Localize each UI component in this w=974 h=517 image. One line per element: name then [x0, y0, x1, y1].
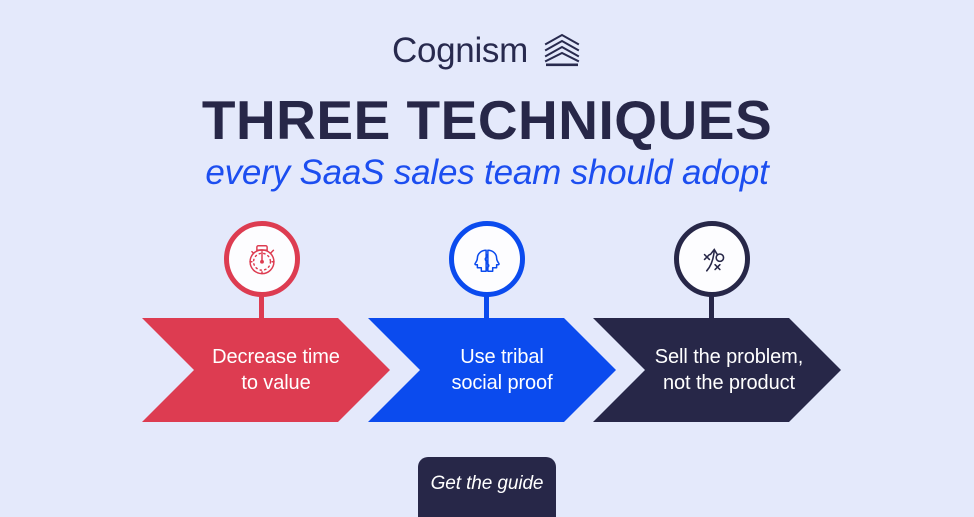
step-arrow-3[interactable]: Sell the problem, not the product: [593, 318, 841, 422]
step-arrow-2[interactable]: Use tribal social proof: [368, 318, 616, 422]
stopwatch-icon: [240, 237, 284, 281]
brand-logo: Cognism: [0, 30, 974, 70]
steps-arrow-band: Decrease time to value Use tribal social…: [0, 318, 974, 422]
step-arrow-label-1: Decrease time to value: [186, 344, 346, 397]
page-subtitle: every SaaS sales team should adopt: [0, 152, 974, 194]
get-the-guide-button[interactable]: Get the guide: [418, 457, 556, 517]
step-arrow-1[interactable]: Decrease time to value: [142, 318, 390, 422]
step-badge-2: [449, 221, 525, 297]
step-badge-1: [224, 221, 300, 297]
brand-name: Cognism: [392, 33, 528, 68]
step-arrow-label-2: Use tribal social proof: [425, 344, 558, 397]
two-heads-puzzle-icon: [466, 238, 508, 280]
page-title: THREE TECHNIQUES: [0, 92, 974, 150]
stacked-chevrons-icon: [542, 30, 582, 70]
infographic-canvas: Cognism THREE TECHNIQUES every SaaS sale…: [0, 0, 974, 510]
step-badge-3: [674, 221, 750, 297]
step-arrow-label-3: Sell the problem, not the product: [625, 344, 809, 397]
strategy-playbook-icon: [691, 238, 733, 280]
